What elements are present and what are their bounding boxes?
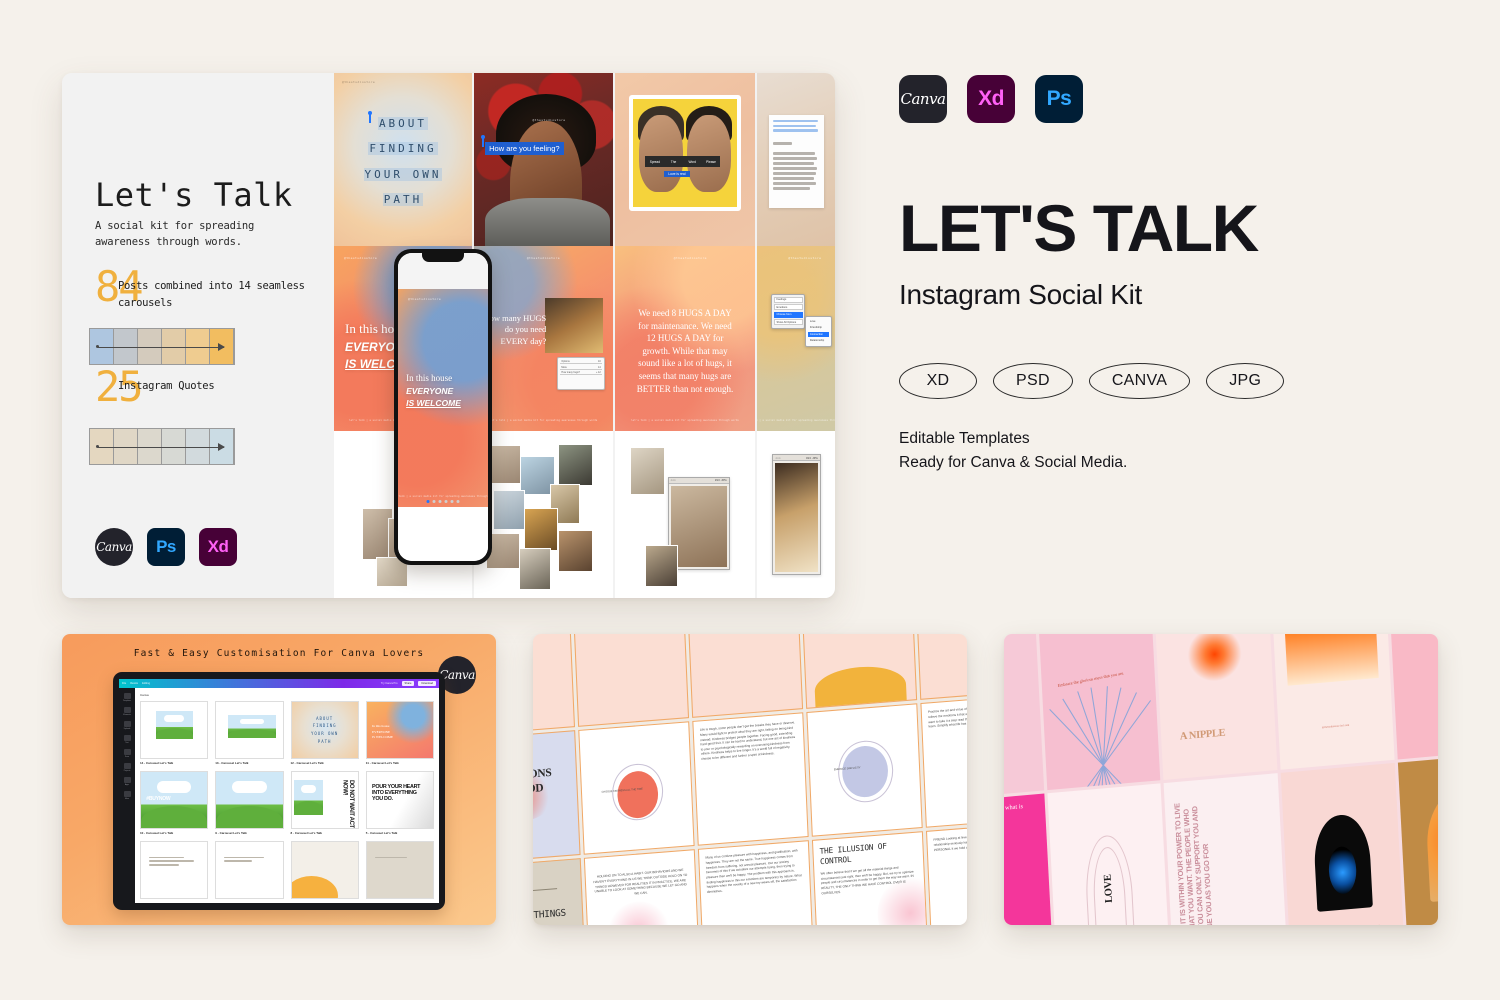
format-pill-jpg[interactable]: JPG	[1206, 363, 1284, 399]
window-titlebar: ○○○ #13 .JPG	[773, 455, 819, 461]
poster-tile: LET THE BEAUTY OF WHAT YOU LOVE BE WHAT …	[1281, 763, 1405, 925]
post-footnote: let's talk | a social media kit for spre…	[490, 419, 598, 423]
phone-house-line-2: EVERYONE	[406, 385, 461, 397]
hugs-dialog: Options10 More14 How many hugs?+ 12	[557, 357, 604, 390]
post-menu-bar: Spread The Word Please	[645, 156, 720, 168]
canva-content-area: Canva 14 - Carousel Let's Talk	[135, 688, 439, 903]
sidebar-item-text[interactable]: Text	[119, 742, 135, 744]
quote-tile: CHOOSE KINDNESS ALL THE TIME	[578, 722, 694, 856]
carousel-strip-posts	[89, 328, 235, 365]
post-collage-window: ○○○ #13 .JPG	[615, 431, 757, 598]
quote-tile: FRIEND Looking at levels to be BETTER RE…	[925, 823, 967, 925]
template-card[interactable]	[366, 841, 434, 899]
quote-tile: LET GO OF THINGS YOU CAN'T	[533, 859, 586, 925]
topbar-resize[interactable]: Resize	[130, 682, 138, 685]
note-line-1: Editable Templates	[899, 427, 1419, 451]
template-label: 14 - Carousel Let's Talk	[140, 761, 208, 765]
post-we-need-hugs: @thestudiostore We need 8 HUGS A DAY for…	[615, 246, 757, 431]
quote-tile: Many of us confuse pleasure with happine…	[697, 841, 813, 925]
template-card[interactable]: DO NOT WAIT ACT NOW! 8 - Carousel Let's …	[291, 771, 359, 835]
carousel-dots[interactable]	[427, 500, 460, 503]
topbar-try-pro[interactable]: Try Canva Pro	[381, 682, 398, 685]
breadcrumb: Canva	[140, 693, 434, 697]
quote-tile: THE ILLUSION OF CONTROL We often believe…	[811, 832, 927, 925]
need-text: We need 8 HUGS A DAY for maintenance. We…	[635, 307, 736, 395]
quote-tile: Practice the art and virtue of aspects o…	[920, 695, 967, 829]
card-poster-grid: G P ONG EEP ING CEP ONG ILLS OING EADY L…	[1004, 634, 1438, 925]
phone-house-line-1: In this house	[406, 373, 452, 383]
quote-text: Many of us confuse pleasure with happine…	[705, 849, 803, 895]
template-label: 11 - Carousel Let's Talk	[366, 761, 434, 765]
template-label: 10 - Carousel Let's Talk	[140, 831, 208, 835]
sidebar-item-apps[interactable]: Apps	[119, 784, 135, 786]
quote-tile: Make every moment count It is important …	[686, 634, 802, 718]
post-how-many-hugs: @thestudiostore How many HUGS do you nee…	[474, 246, 615, 431]
template-card[interactable]	[291, 841, 359, 899]
template-card[interactable]	[215, 841, 283, 899]
poster-heading: REMEMBER IT IS WITHIN YOUR POWER TO LIVE…	[1174, 791, 1218, 925]
poster-tile: S I	[1398, 753, 1438, 925]
quote-text: FRIEND Looking at levels to be BETTER RE…	[933, 831, 967, 853]
submenu-item-3[interactable]: Relationship	[808, 338, 830, 343]
post-about-lines: ABOUT FINDING YOUR OWN PATH	[334, 111, 472, 212]
menu-item-1: The	[664, 156, 683, 168]
sidebar-item-elements[interactable]: Elements	[119, 714, 135, 716]
thumb-text: POUR YOUR HEART INTO EVERYTHING YOU DO.	[372, 784, 428, 802]
post-footnote: let's talk | a social media kit for spre…	[631, 419, 739, 423]
topbar-file[interactable]: File	[122, 682, 126, 685]
submenu-item-0[interactable]: Love	[808, 319, 830, 324]
product-note: Editable Templates Ready for Canva & Soc…	[899, 427, 1419, 475]
poster-tile: G P ONG EEP ING CEP ONG ILLS OING EADY L…	[1004, 634, 1044, 800]
phone-notch	[422, 253, 464, 262]
thumb-line-1: FINDING	[313, 722, 337, 730]
poster-canvas: @thestudiostore ABOUT FINDING YOUR OWN P…	[0, 0, 1500, 1000]
hero-mockup-board: @thestudiostore ABOUT FINDING YOUR OWN P…	[62, 73, 835, 598]
template-label: 5 - Carousel Let's Talk	[366, 831, 434, 835]
quote-heading: THE ILLUSION OF CONTROL	[819, 840, 916, 867]
window-titlebar: ○○○ #13 .JPG	[669, 478, 729, 484]
quote-tile: EMBRACE SIMPLICITY	[806, 704, 922, 838]
xd-logo: Xd	[199, 528, 237, 566]
about-line-0: ABOUT	[378, 117, 428, 130]
poster-text: time is always right. to do what is righ…	[1004, 802, 1038, 830]
thumb-line-2: YOUR OWN	[311, 730, 338, 738]
template-card[interactable]: 14 - Carousel Let's Talk	[140, 701, 208, 765]
quote-text: Life is tough, some people don't get the…	[699, 720, 797, 761]
poster-tile: time is always right. to do what is righ…	[1004, 794, 1055, 925]
canva-logo: Canva	[95, 528, 133, 566]
post-love-pill: Love is real	[664, 171, 689, 177]
thumb-line-1: EVERYONE	[372, 730, 393, 735]
template-card[interactable]: In this house EVERYONE IS WELCOME 11 - C…	[366, 701, 434, 765]
quote-text: Practice the art and virtue of aspects o…	[927, 703, 967, 730]
thumb-line-3: PATH	[318, 738, 332, 746]
template-card[interactable]	[140, 841, 208, 899]
post-footnote: let's talk | a social media kit for spre…	[757, 419, 835, 423]
format-pill-xd[interactable]: XD	[899, 363, 977, 399]
window-title: #13 .JPG	[715, 478, 727, 482]
submenu-item-1[interactable]: Friendship	[808, 325, 830, 330]
template-label: 8 - Carousel Let's Talk	[291, 831, 359, 835]
template-card[interactable]: ABOUT FINDING YOUR OWN PATH 12 - Carouse…	[291, 701, 359, 765]
sidebar-item-templates[interactable]: Templates	[119, 700, 135, 702]
poster-tile: but something to gain.	[1387, 634, 1438, 760]
card-quotes-grid: lk Yourn Path @thestudiostorelet's talk …	[533, 634, 967, 925]
thumb-text: #BUYNOW	[146, 796, 170, 802]
image-window[interactable]: ○○○ #13 .JPG	[772, 454, 820, 575]
quote-tile: HOLDING ON TO ALSO A HABIT. OUR BEHAVIOR…	[583, 850, 699, 925]
note-line-2: Ready for Canva & Social Media.	[899, 451, 1419, 475]
xd-logo: Xd	[967, 75, 1015, 123]
stat-quotes-label: Instagram Quotes	[118, 378, 318, 395]
template-card[interactable]: 9 - Carousel Let's Talk	[215, 771, 283, 835]
post-about-path: @thestudiostore ABOUT FINDING YOUR OWN P…	[334, 73, 474, 246]
hero-title: Let's Talk	[95, 176, 293, 214]
topbar-editing[interactable]: Editing	[142, 682, 150, 685]
quote-tile: It is important to reach, to the tasks o…	[572, 634, 688, 727]
about-line-3: PATH	[383, 193, 424, 206]
quote-heading: LET GO OF THINGS YOU CAN'T	[533, 908, 576, 925]
post-collage-grid	[474, 431, 615, 598]
dropdown-item-3[interactable]: Show All Options	[774, 319, 803, 325]
post-spread-the-word: Spread The Word Please Love is real	[615, 73, 757, 246]
line-fan-decor	[1037, 634, 1161, 790]
quote-tile: growth, life is not as intense and empty…	[914, 634, 967, 700]
mockup-row-top: @thestudiostore ABOUT FINDING YOUR OWN P…	[334, 73, 835, 246]
product-info-column: Canva Xd Ps LET'S TALK Instagram Social …	[899, 75, 1419, 475]
thumb-line-0: ABOUT	[316, 715, 333, 723]
dropdown-panel[interactable]: Feelings Emotions Choose from Show All O…	[771, 294, 805, 329]
post-how-are-you-feeling: @thestudiostore How are you feeling?	[474, 73, 615, 246]
photoshop-logo: Ps	[1035, 75, 1083, 123]
post-true-happiness	[757, 73, 835, 246]
thumb-text: DO NOT WAIT ACT NOW!	[341, 780, 354, 828]
poster-tile: Embrace the glorious mess that you are.	[1037, 634, 1161, 790]
phone-house-line-3: IS WELCOME	[406, 397, 461, 409]
quote-text: HOLDING ON TO ALSO A HABIT. OUR BEHAVIOR…	[591, 858, 689, 900]
dropdown-item-1[interactable]: Emotions	[774, 304, 803, 310]
poster-tile: REMEMBER IT IS WITHIN YOUR POWER TO LIVE…	[1164, 773, 1288, 925]
phone-mockup: @thestudiostore In this house EVERYONE I…	[394, 249, 492, 565]
window-title: #13 .JPG	[806, 456, 818, 460]
menu-item-0: Spread	[645, 156, 664, 168]
topbar-download-button[interactable]: Download	[418, 681, 436, 686]
quotes-perspective-grid: lk Yourn Path @thestudiostorelet's talk …	[533, 634, 967, 925]
quote-heading: LIFE LESSONS FOR A GOOD MINDSET	[533, 765, 571, 815]
template-label: 12 - Carousel Let's Talk	[291, 761, 359, 765]
post-footnote: let's talk | a social media kit for spre…	[398, 495, 488, 499]
card-canva-ipad: Fast & Easy Customisation For Canva Love…	[62, 634, 496, 925]
post-collage-right: ○○○ #13 .JPG	[757, 431, 835, 598]
format-pill-row: XD PSD CANVA JPG	[899, 363, 1419, 399]
ipad-device: File Resize Editing Try Canva Pro Share …	[113, 672, 445, 910]
hero-logo-row: Canva Ps Xd	[95, 528, 237, 566]
carousel-strip-quotes	[89, 428, 235, 465]
dropdown-submenu[interactable]: Love Friendship Connection Relationship	[805, 316, 832, 347]
about-line-2: YOUR OWN	[364, 168, 443, 181]
phone-post-in-this-house: @thestudiostore In this house EVERYONE I…	[398, 289, 488, 507]
thumb-line-2: IS WELCOME	[372, 735, 393, 740]
dropdown-item-2[interactable]: Choose from	[774, 312, 803, 318]
format-pill-canva[interactable]: CANVA	[1089, 363, 1190, 399]
product-title: LET'S TALK	[899, 195, 1419, 261]
stat-posts-label: Posts combined into 14 seamless carousel…	[118, 278, 318, 312]
submenu-item-2[interactable]: Connection	[808, 332, 830, 337]
sidebar-item-projects[interactable]: Projects	[119, 770, 135, 772]
post-dropdown-menu: @thestudiostore Feelings Emotions Choose…	[757, 246, 835, 431]
canva-card-heading: Fast & Easy Customisation For Canva Love…	[62, 648, 496, 659]
topbar-share-button[interactable]: Share	[402, 681, 415, 686]
template-card[interactable]: POUR YOUR HEART INTO EVERYTHING YOU DO. …	[366, 771, 434, 835]
canva-app: File Resize Editing Try Canva Pro Share …	[119, 679, 439, 903]
poster-text: LET THE BEAUTY OF WHAT YOU LOVE BE WHAT …	[1305, 923, 1388, 925]
quote-tile: The best way to achieve harmony by repea…	[800, 634, 916, 709]
template-label: 13 - Carousel Let's Talk	[215, 761, 283, 765]
software-logo-row: Canva Xd Ps	[899, 75, 1419, 123]
poster-heading: LOVE	[1102, 875, 1115, 904]
menu-item-3: Please	[702, 156, 721, 168]
canva-template-grid: 14 - Carousel Let's Talk 13 - Carousel L…	[140, 701, 434, 899]
photoshop-logo: Ps	[147, 528, 185, 566]
hero-subtitle: A social kit for spreading awareness thr…	[95, 218, 300, 251]
poster-tile: LOVE	[1047, 783, 1171, 925]
format-pill-psd[interactable]: PSD	[993, 363, 1073, 399]
post-caption: How are you feeling?	[485, 142, 563, 155]
hero-info-panel: Let's Talk A social kit for spreading aw…	[62, 73, 334, 598]
about-line-1: FINDING	[368, 142, 437, 155]
dropdown-item-0[interactable]: Feelings	[774, 297, 803, 303]
poster-tile: YES, IT'S A NIPPLE	[1154, 634, 1278, 780]
template-label: 9 - Carousel Let's Talk	[215, 831, 283, 835]
canva-sidebar: Templates Elements Uploads Text Draw Pro…	[119, 688, 135, 903]
sidebar-item-draw[interactable]: Draw	[119, 756, 135, 758]
quote-tile: LIFE LESSONS FOR A GOOD MINDSET	[533, 731, 580, 865]
sidebar-item-more[interactable]: More	[119, 798, 135, 800]
sidebar-item-uploads[interactable]: Uploads	[119, 728, 135, 730]
product-subtitle: Instagram Social Kit	[899, 279, 1419, 311]
quote-tile: lk Yourn Path @thestudiostorelet's talk	[533, 634, 575, 736]
menu-item-2: Word	[683, 156, 702, 168]
posters-perspective-grid: G P ONG EEP ING CEP ONG ILLS OING EADY L…	[1004, 634, 1438, 925]
template-card[interactable]: #BUYNOW 10 - Carousel Let's Talk	[140, 771, 208, 835]
template-card[interactable]: 13 - Carousel Let's Talk	[215, 701, 283, 765]
paragraph-card	[769, 115, 824, 208]
quote-tile: Life is tough, some people don't get the…	[692, 713, 808, 847]
canva-topbar: File Resize Editing Try Canva Pro Share …	[119, 679, 439, 688]
canva-logo: Canva	[899, 75, 947, 123]
poster-tile: Reality IS WRONG, DREAMS ARE FOR REAL @t…	[1271, 634, 1395, 770]
poster-text: A NIPPLE	[1180, 727, 1226, 743]
